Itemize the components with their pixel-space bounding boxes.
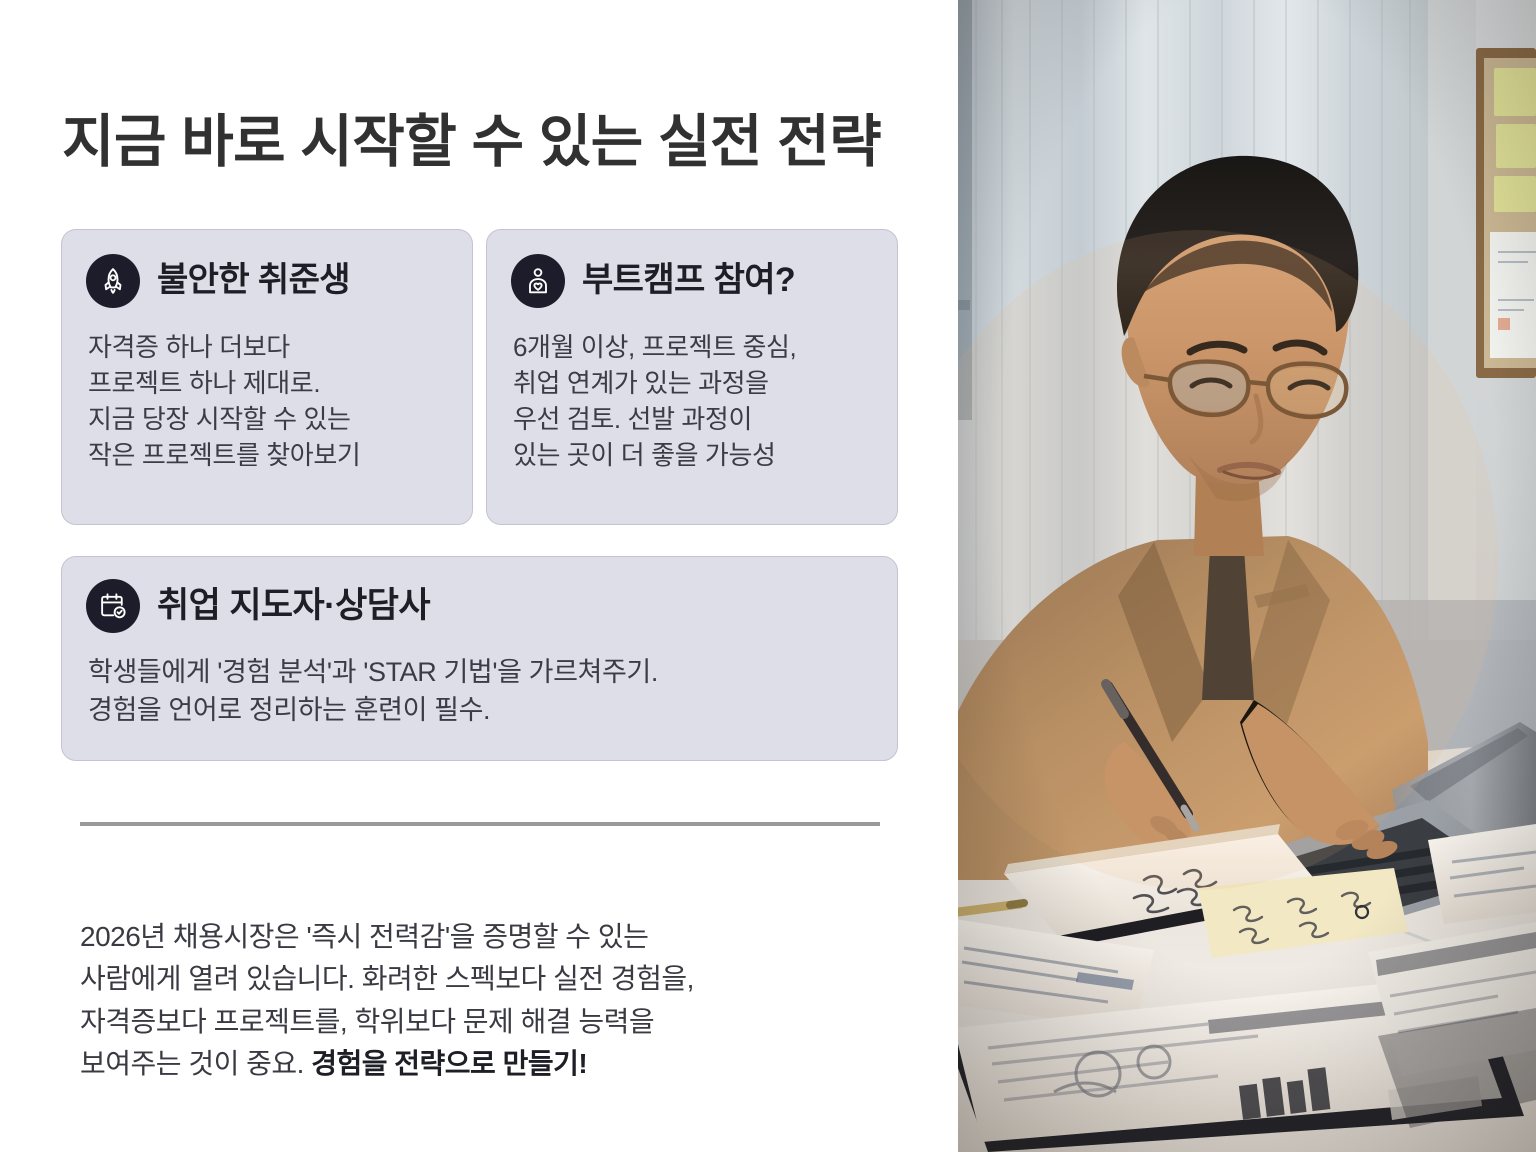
rocket-icon [86,254,140,308]
person-heart-icon [511,254,565,308]
card-header: 부트캠프 참여? [487,230,897,308]
card-title: 부트캠프 참여? [582,262,795,299]
content-column: 지금 바로 시작할 수 있는 실전 전략 불안한 취준생 자격증 하나 더보다 … [0,0,958,1152]
section-divider [80,822,880,826]
calendar-check-icon [86,579,140,633]
strategy-card-bootcamp: 부트캠프 참여? 6개월 이상, 프로젝트 중심, 취업 연계가 있는 과정을 … [486,229,898,525]
card-title: 취업 지도자·상담사 [157,587,430,626]
card-title: 불안한 취준생 [157,262,350,299]
card-body-text: 학생들에게 '경험 분석'과 'STAR 기법'을 가르쳐주기. 경험을 언어로… [62,633,897,730]
summary-emphasis-text: 경험을 전략으로 만들기! [311,1048,587,1079]
card-body-text: 6개월 이상, 프로젝트 중심, 취업 연계가 있는 과정을 우선 검토. 선발… [487,308,897,474]
strategy-card-career-counselor: 취업 지도자·상담사 학생들에게 '경험 분석'과 'STAR 기법'을 가르쳐… [61,556,898,761]
summary-paragraph: 2026년 채용시장은 '즉시 전력감'을 증명할 수 있는 사람에게 열려 있… [80,873,920,1086]
hero-photo [958,0,1536,1152]
strategy-card-anxious-jobseeker: 불안한 취준생 자격증 하나 더보다 프로젝트 하나 제대로. 지금 당장 시작… [61,229,473,525]
slide-root: 지금 바로 시작할 수 있는 실전 전략 불안한 취준생 자격증 하나 더보다 … [0,0,1536,1152]
card-body-text: 자격증 하나 더보다 프로젝트 하나 제대로. 지금 당장 시작할 수 있는 작… [62,308,472,474]
page-title: 지금 바로 시작할 수 있는 실전 전략 [62,110,958,176]
card-header: 취업 지도자·상담사 [62,557,897,633]
card-header: 불안한 취준생 [62,230,472,308]
